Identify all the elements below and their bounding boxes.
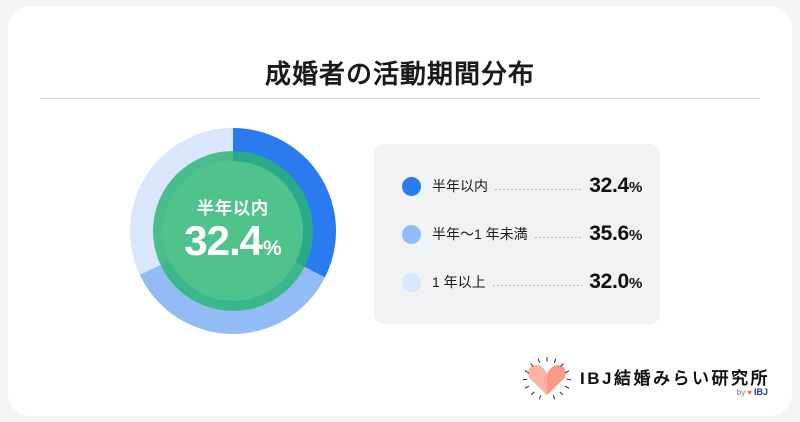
donut-center-value-row: 32.4 %	[184, 220, 281, 262]
legend-swatch-icon-0	[402, 177, 421, 196]
brand-byline: by ♥ IBJ	[737, 387, 768, 397]
legend-unit-0: %	[629, 179, 642, 196]
brand-logo: IBJ結婚みらい研究所 by ♥ IBJ	[520, 354, 768, 402]
donut-chart: 半年以内 32.4 %	[130, 128, 336, 334]
legend-label-0: 半年以内	[432, 176, 488, 196]
brand-byline-by: by	[737, 388, 745, 397]
legend-panel: 半年以内 32.4% 半年〜1 年未満 35.6% 1 年以上 32.0%	[374, 144, 660, 324]
title-divider	[40, 98, 760, 99]
donut-center-text: 半年以内 32.4 %	[153, 151, 313, 311]
infographic-card: 成婚者の活動期間分布 半年以内 32.4 % 半年以内 32.4% 半年〜1 年…	[8, 6, 792, 416]
legend-swatch-icon-1	[402, 225, 421, 244]
legend-leader-2	[493, 285, 583, 286]
legend-unit-2: %	[629, 275, 642, 292]
legend-unit-1: %	[629, 227, 642, 244]
heart-sparkle-icon	[520, 354, 574, 402]
legend-value-0: 32.4%	[589, 174, 642, 198]
legend-label-1: 半年〜1 年未満	[432, 224, 528, 244]
legend-value-1: 35.6%	[589, 222, 642, 246]
donut-center-unit: %	[263, 238, 282, 259]
legend-label-2: 1 年以上	[432, 272, 486, 292]
donut-center-value: 32.4	[184, 220, 262, 262]
legend-swatch-icon-2	[402, 273, 421, 292]
page-title: 成婚者の活動期間分布	[8, 54, 792, 91]
brand-name: IBJ結婚みらい研究所	[580, 364, 770, 389]
legend-number-2: 32.0	[589, 270, 629, 293]
legend-number-1: 35.6	[589, 222, 629, 245]
legend-leader-0	[495, 189, 582, 190]
legend-leader-1	[535, 237, 583, 238]
legend-item-0[interactable]: 半年以内 32.4%	[402, 172, 642, 200]
brand-byline-ibj: IBJ	[754, 387, 768, 397]
donut-center-label: 半年以内	[197, 200, 269, 219]
legend-item-2[interactable]: 1 年以上 32.0%	[402, 268, 642, 296]
legend-item-1[interactable]: 半年〜1 年未満 35.6%	[402, 220, 642, 248]
legend-value-2: 32.0%	[589, 270, 642, 294]
brand-byline-heart-icon: ♥	[747, 388, 752, 397]
legend-number-0: 32.4	[589, 174, 629, 197]
